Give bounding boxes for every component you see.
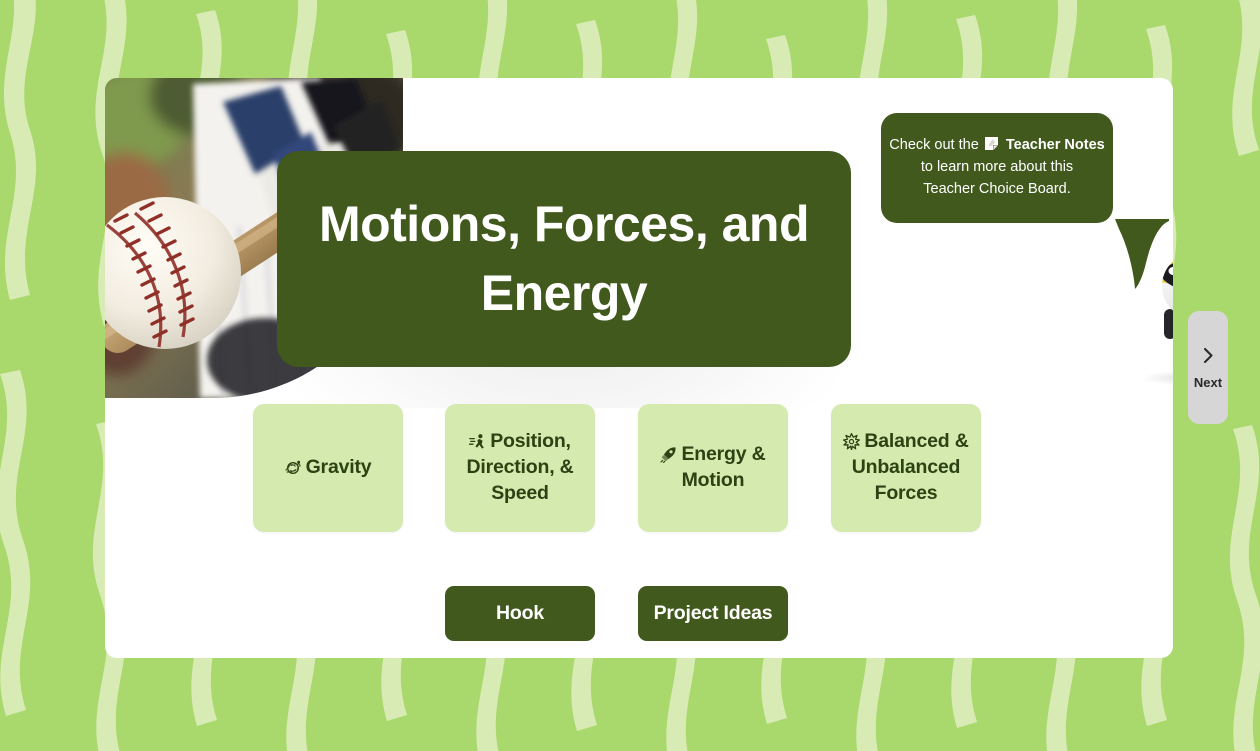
slide-page: Motions, Forces, and Energy Check out th… (0, 0, 1260, 751)
slide-title-card: Motions, Forces, and Energy (277, 151, 851, 367)
callout-line-1-prefix: Check out the (889, 137, 978, 153)
topic-card-gravity[interactable]: Gravity (253, 404, 403, 532)
collision-burst-icon (843, 433, 860, 450)
topic-card-label: Gravity (285, 455, 372, 481)
topic-card-label: Position, Direction, & Speed (457, 429, 583, 507)
topic-card-label: Energy & Motion (650, 442, 776, 494)
topic-card-energy-motion[interactable]: Energy & Motion (638, 404, 788, 532)
rocket-icon (660, 446, 677, 463)
callout-line-3: Teacher Choice Board. (923, 178, 1071, 200)
topic-card-position-direction-speed[interactable]: Position, Direction, & Speed (445, 404, 595, 532)
callout-line-1: Check out the Teacher Notes (889, 134, 1104, 156)
teacher-notes-callout[interactable]: Check out the Teacher Notes to learn mor… (881, 113, 1113, 223)
next-navigation-tab[interactable]: Next (1188, 311, 1228, 424)
action-button-row: Hook Project Ideas (105, 586, 1173, 644)
topic-card-label: Balanced & Unbalanced Forces (843, 429, 969, 507)
chevron-right-icon (1201, 346, 1216, 365)
project-ideas-button[interactable]: Project Ideas (638, 586, 788, 641)
hook-button[interactable]: Hook (445, 586, 595, 641)
teacher-notes-link[interactable]: Teacher Notes (1006, 137, 1105, 153)
callout-line-2: to learn more about this (921, 156, 1073, 178)
topic-card-row: Gravity Position, Direction, & Speed (105, 404, 1173, 536)
yellow-robot-mascot (1145, 241, 1173, 376)
page-title: Motions, Forces, and Energy (311, 190, 817, 328)
note-icon (984, 136, 999, 151)
slide-panel: Motions, Forces, and Energy Check out th… (105, 78, 1173, 658)
next-label: Next (1194, 375, 1222, 390)
topic-card-balanced-unbalanced-forces[interactable]: Balanced & Unbalanced Forces (831, 404, 981, 532)
running-person-icon (469, 433, 486, 450)
ringed-planet-icon (285, 459, 302, 476)
